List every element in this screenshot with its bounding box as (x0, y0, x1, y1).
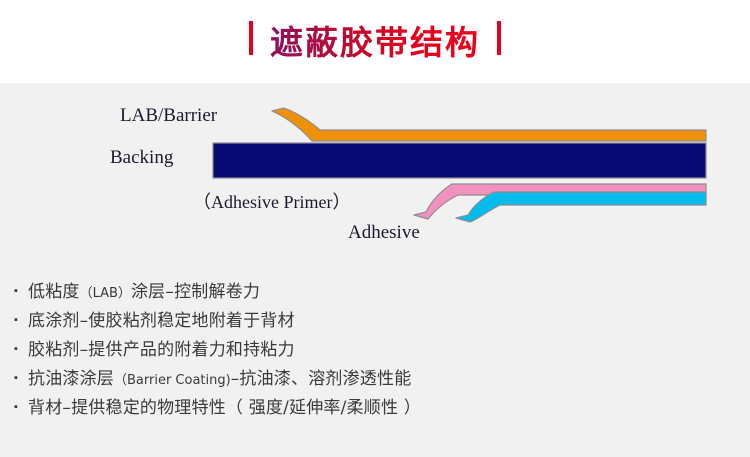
title-left-bar-icon (249, 21, 253, 55)
list-item-text: 背材–提供稳定的物理特性（ 强度/延伸率/柔顺性 ） (28, 393, 421, 418)
title-band: 遮蔽胶带结构 (0, 0, 750, 83)
bullet-square-icon: ▪ (14, 373, 28, 384)
list-item: ▪ 低粘度（LAB）涂层–控制解卷力 (0, 277, 750, 306)
title-wrap: 遮蔽胶带结构 (0, 16, 750, 64)
list-item: ▪ 背材–提供稳定的物理特性（ 强度/延伸率/柔顺性 ） (0, 393, 750, 422)
bullet-square-icon: ▪ (14, 344, 28, 355)
list-item-paren: （LAB） (80, 286, 131, 301)
list-item-lead: 低粘度 (28, 282, 80, 302)
list-item-text: 低粘度（LAB）涂层–控制解卷力 (28, 277, 260, 302)
list-item-text: 底涂剂–使胶粘剂稳定地附着于背材 (28, 306, 295, 331)
list-item-text: 抗油漆涂层（Barrier Coating)–抗油漆、溶剂渗透性能 (28, 364, 411, 389)
layer-lab-barrier-shape (272, 108, 706, 141)
page-title: 遮蔽胶带结构 (270, 16, 480, 64)
list-item-lead: 胶粘剂–提供产品的附着力和持粘力 (28, 340, 295, 360)
title-right-bar-icon (497, 21, 501, 55)
list-item-lead: 背材–提供稳定的物理特性（ 强度/延伸率/柔顺性 ） (28, 398, 421, 418)
layer-backing-shape (213, 143, 706, 178)
page-root: 遮蔽胶带结构 LAB/Barrier Backing （Adhesive Pri… (0, 0, 750, 457)
tape-structure-diagram: LAB/Barrier Backing （Adhesive Primer） Ad… (0, 83, 750, 263)
list-item-lead: 底涂剂–使胶粘剂稳定地附着于背材 (28, 311, 295, 331)
layer-adhesive-shape (456, 192, 706, 222)
diagram-label-backing: Backing (110, 147, 173, 169)
bullet-square-icon: ▪ (14, 286, 28, 297)
list-item-rest: 涂层–控制解卷力 (131, 282, 260, 302)
description-list: ▪ 低粘度（LAB）涂层–控制解卷力 ▪ 底涂剂–使胶粘剂稳定地附着于背材 ▪ … (0, 277, 750, 422)
diagram-label-adhesive-primer: （Adhesive Primer） (193, 188, 350, 214)
diagram-label-adhesive: Adhesive (348, 222, 420, 244)
list-item: ▪ 胶粘剂–提供产品的附着力和持粘力 (0, 335, 750, 364)
list-item: ▪ 抗油漆涂层（Barrier Coating)–抗油漆、溶剂渗透性能 (0, 364, 750, 393)
bullet-square-icon: ▪ (14, 315, 28, 326)
list-item: ▪ 底涂剂–使胶粘剂稳定地附着于背材 (0, 306, 750, 335)
list-item-lead: 抗油漆涂层 (28, 369, 114, 389)
list-item-paren: （Barrier Coating) (114, 373, 231, 388)
diagram-label-lab-barrier: LAB/Barrier (120, 105, 217, 127)
list-item-text: 胶粘剂–提供产品的附着力和持粘力 (28, 335, 295, 360)
list-item-rest: –抗油漆、溶剂渗透性能 (231, 369, 412, 389)
bullet-square-icon: ▪ (14, 402, 28, 413)
